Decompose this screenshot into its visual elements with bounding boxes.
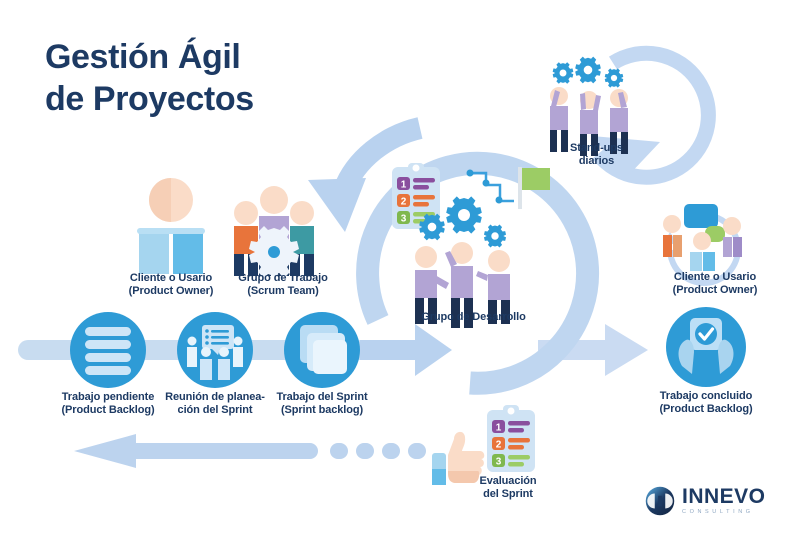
- step-trabajo-pendiente[interactable]: [70, 312, 146, 388]
- innevo-logo[interactable]: INNEVO CONSULTING: [645, 482, 775, 520]
- step-trabajo-concluido[interactable]: [666, 307, 746, 387]
- thumbs-up-checklist-icon: 1 2 3: [432, 405, 535, 485]
- logo-tagline: CONSULTING: [682, 508, 766, 516]
- innevo-logo-mark: [645, 486, 675, 516]
- feedback-people-icon: [663, 204, 742, 283]
- svg-text:2: 2: [496, 440, 502, 451]
- standup-gears-icon: [550, 57, 628, 156]
- step-trabajo-sprint[interactable]: [284, 312, 360, 388]
- svg-text:3: 3: [496, 457, 502, 468]
- svg-text:3: 3: [401, 214, 407, 225]
- step-reunion-planeacion[interactable]: [177, 312, 253, 388]
- infographic-canvas: 1 2 3: [0, 0, 785, 536]
- svg-text:2: 2: [401, 197, 407, 208]
- person-book-icon: [137, 178, 205, 274]
- return-arrow: [74, 434, 426, 468]
- svg-text:1: 1: [496, 423, 502, 434]
- arrow-right-1: [360, 324, 452, 376]
- logo-name: INNEVO: [682, 486, 766, 507]
- svg-text:1: 1: [401, 180, 407, 191]
- dev-team-icon: 1 2 3: [392, 163, 550, 328]
- team-gear-icon: [234, 186, 314, 278]
